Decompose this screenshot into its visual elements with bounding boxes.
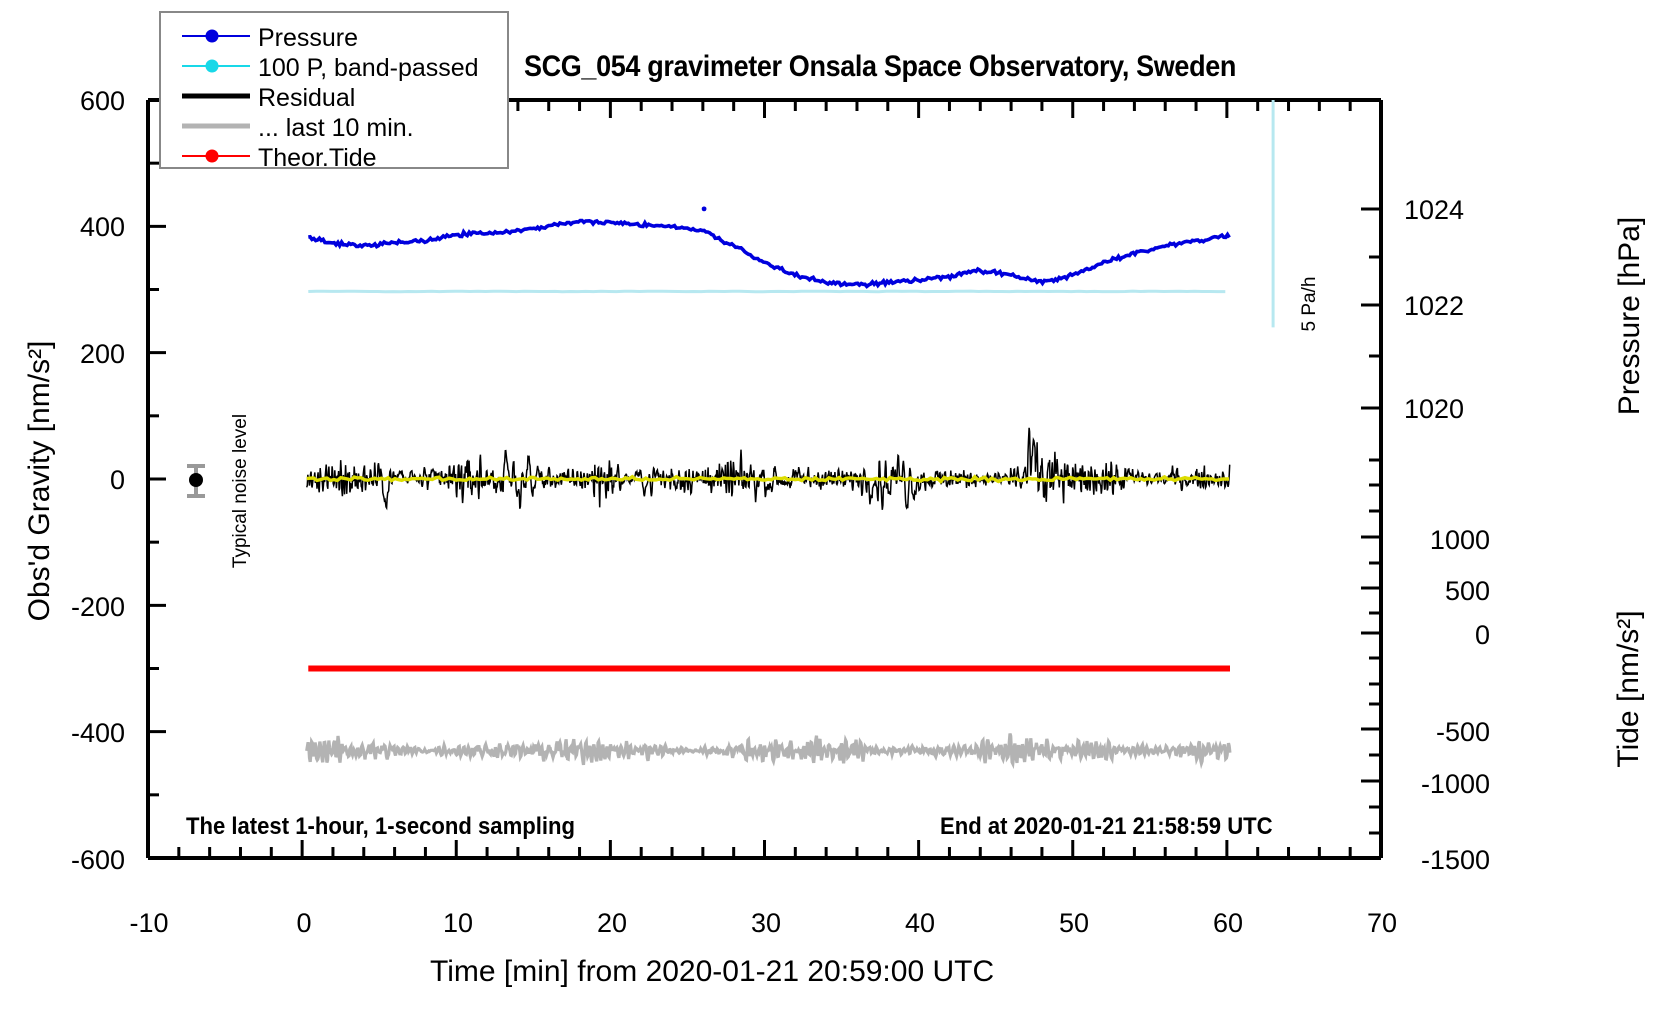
legend-label-pressure: Pressure: [258, 24, 358, 53]
scalebar-label: 5 Pa/h: [1299, 249, 1321, 359]
ytick-tide-n1500: -1500: [1396, 845, 1490, 876]
page-title: SCG_054 gravimeter Onsala Space Observat…: [524, 50, 1236, 84]
y-axis-label-pressure: Pressure [hPa]: [1613, 166, 1647, 466]
ytick-pressure-1022: 1022: [1404, 291, 1464, 322]
legend-marker-4: [206, 150, 219, 163]
series-residual: [307, 428, 1230, 510]
series-last10: [307, 734, 1230, 765]
series-pressure: [308, 221, 1229, 287]
ytick-left-n400: -400: [20, 718, 125, 749]
xtick-20: 20: [591, 908, 633, 939]
xtick-0: 0: [283, 908, 325, 939]
xtick-10: 10: [437, 908, 479, 939]
legend-label-bandpassed: 100 P, band-passed: [258, 54, 479, 83]
ytick-left-400: 400: [20, 212, 125, 243]
ytick-pressure-1024: 1024: [1404, 195, 1464, 226]
ytick-tide-500: 500: [1396, 576, 1490, 607]
xtick-70: 70: [1361, 908, 1403, 939]
legend-label-tide: Theor.Tide: [258, 144, 377, 173]
noise-level-label: Typical noise level: [230, 381, 252, 601]
xtick-50: 50: [1053, 908, 1095, 939]
series-pressure-outliers: [702, 206, 707, 211]
ytick-pressure-1020: 1020: [1404, 394, 1464, 425]
ytick-tide-0: 0: [1396, 620, 1490, 651]
ytick-tide-n1000: -1000: [1396, 769, 1490, 800]
chart-canvas: SCG_054 gravimeter Onsala Space Observat…: [0, 0, 1660, 1020]
noise-level-marker: [187, 466, 205, 496]
xtick-40: 40: [899, 908, 941, 939]
ytick-left-600: 600: [20, 86, 125, 117]
annotation-bottom-right: End at 2020-01-21 21:58:59 UTC: [940, 813, 1273, 841]
y-axis-label-left: Obs'd Gravity [nm/s²]: [23, 311, 57, 651]
xtick-30: 30: [745, 908, 787, 939]
legend-label-residual: Residual: [258, 84, 355, 113]
xtick-60: 60: [1207, 908, 1249, 939]
series-bandpassed: [308, 291, 1225, 292]
ytick-tide-n500: -500: [1396, 717, 1490, 748]
legend-marker-0: [206, 30, 219, 43]
xtick--10: -10: [128, 908, 170, 939]
y-axis-label-tide: Tide [nm/s²]: [1612, 554, 1646, 824]
annotation-bottom-left: The latest 1-hour, 1-second sampling: [186, 813, 575, 841]
ytick-tide-1000: 1000: [1396, 525, 1490, 556]
legend-label-last10: ... last 10 min.: [258, 114, 414, 143]
x-axis-label: Time [min] from 2020-01-21 20:59:00 UTC: [430, 955, 994, 989]
legend-marker-1: [206, 60, 219, 73]
ytick-left-n600: -600: [20, 845, 125, 876]
